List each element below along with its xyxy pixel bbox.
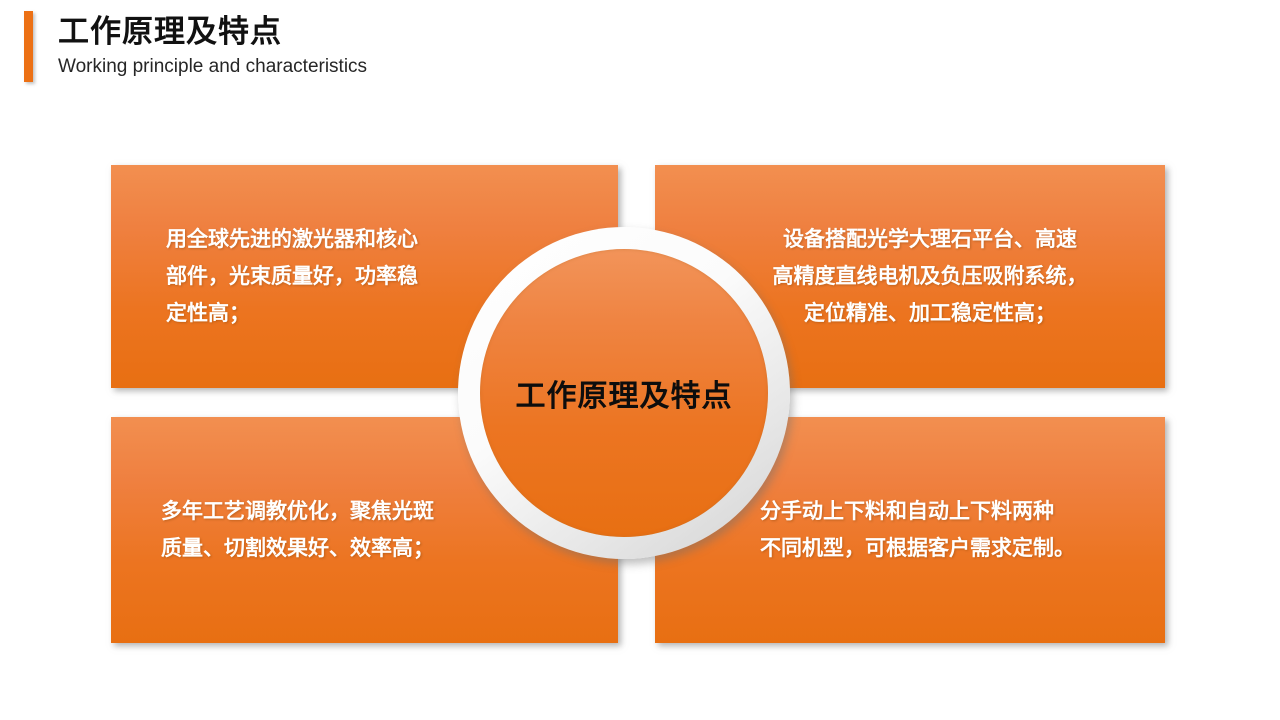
quadrant-text-top-right: 设备搭配光学大理石平台、高速 高精度直线电机及负压吸附系统， 定位精准、加工稳定… bbox=[730, 221, 1130, 332]
slide-header: 工作原理及特点 Working principle and characteri… bbox=[0, 0, 1280, 100]
quadrant-text-bottom-left: 多年工艺调教优化，聚焦光斑 质量、切割效果好、效率高； bbox=[161, 493, 491, 567]
page-title: 工作原理及特点 bbox=[58, 12, 858, 52]
page-subtitle: Working principle and characteristics bbox=[58, 54, 858, 80]
quadrant-text-top-left: 用全球先进的激光器和核心 部件，光束质量好，功率稳 定性高； bbox=[166, 221, 496, 332]
center-circle[interactable]: 工作原理及特点 bbox=[458, 227, 790, 559]
center-circle-label: 工作原理及特点 bbox=[516, 371, 733, 415]
slide-canvas: 工作原理及特点 Working principle and characteri… bbox=[0, 0, 1280, 720]
center-circle-fill: 工作原理及特点 bbox=[480, 249, 768, 537]
title-block: 工作原理及特点 Working principle and characteri… bbox=[58, 12, 858, 80]
quadrant-text-bottom-right: 分手动上下料和自动上下料两种 不同机型，可根据客户需求定制。 bbox=[760, 493, 1130, 567]
title-accent-bar bbox=[24, 11, 33, 82]
